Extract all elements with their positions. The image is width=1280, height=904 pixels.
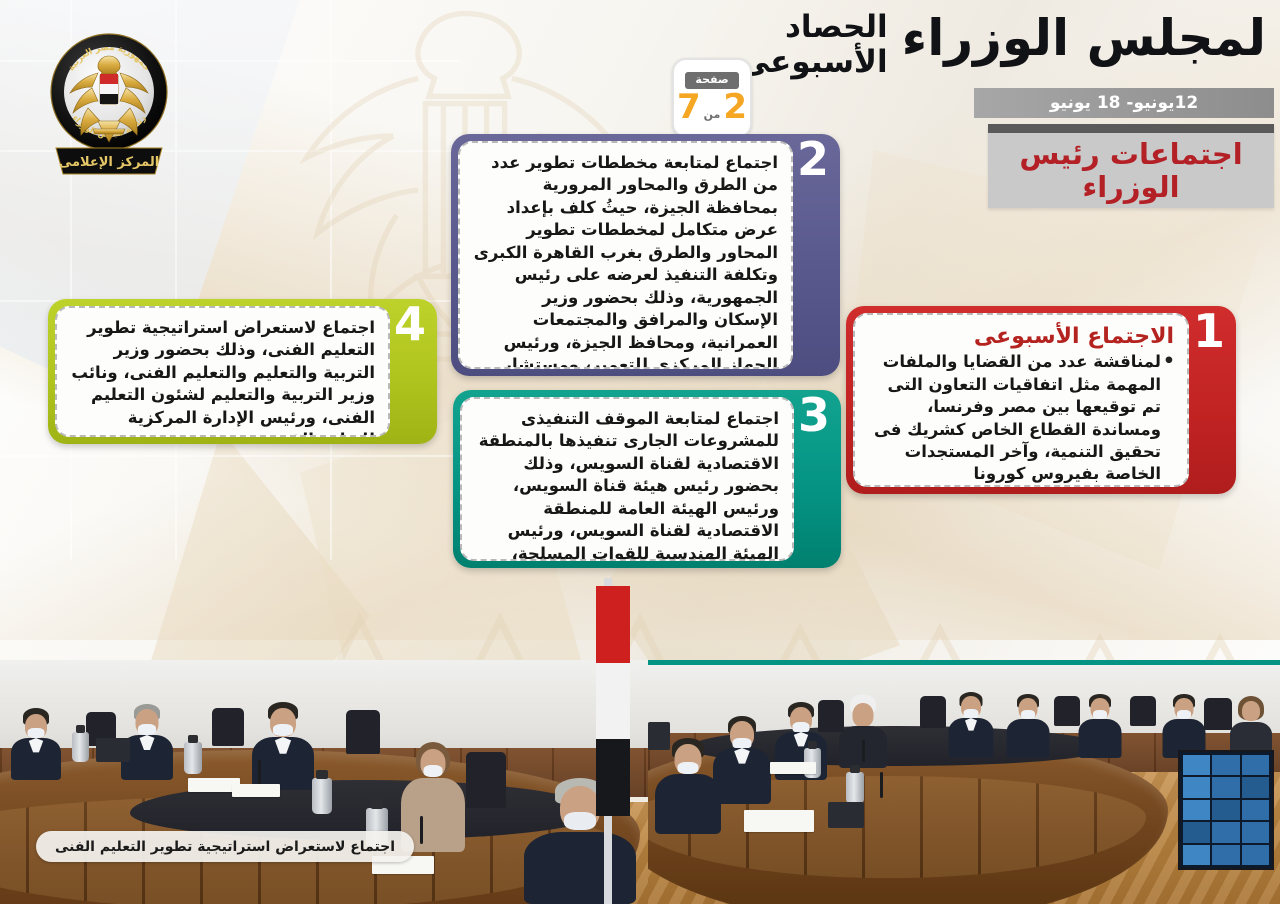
content-card-4[interactable]: 4 اجتماع لاستعراض استراتيجية تطوير التعل… <box>48 299 437 444</box>
page-title-prefix-line2: الأسبوعى <box>739 45 888 80</box>
content-card-2[interactable]: 2 اجتماع لمتابعة مخططات تطوير عدد من الط… <box>451 134 840 376</box>
photo-caption-left-text: اجتماع لاستعراض استراتيجية تطوير التعليم… <box>55 839 395 855</box>
card-text-2: اجتماع لمتابعة مخططات تطوير عدد من الطرق… <box>473 152 778 369</box>
photo-weekly-cabinet-meeting: الاجتماع الأسبوعى لمجلس الوزراء <box>648 660 1280 904</box>
date-range-text: 12يونيو- 18 يونيو <box>1050 93 1198 113</box>
date-range-bar: 12يونيو- 18 يونيو <box>974 88 1274 118</box>
page-badge-numbers: 2 من 7 <box>677 90 747 124</box>
page-badge-total: 7 <box>677 90 701 124</box>
card-number-3: 3 <box>798 392 830 438</box>
cabinet-media-center-logo-icon: جمهورية مصر العربية رئاسة مجلس الوزراء <box>36 26 186 184</box>
card-text-1: لمناقشة عدد من القضايا والملفات المهمة م… <box>868 351 1174 486</box>
card-text-4: اجتماع لاستعراض استراتيجية تطوير التعليم… <box>70 317 375 437</box>
content-card-3[interactable]: 3 اجتماع لمتابعة الموقف التنفيذى للمشروع… <box>453 390 841 568</box>
card-number-1: 1 <box>1193 308 1225 354</box>
page-title: لمجلس الوزراء <box>902 4 1266 64</box>
card-title-1: الاجتماع الأسبوعى <box>868 324 1174 349</box>
page-title-prefix: الحصاد الأسبوعى <box>739 4 888 79</box>
svg-text:المركز الإعلامى: المركز الإعلامى <box>59 155 159 170</box>
egypt-flag-icon <box>596 586 630 816</box>
content-card-1[interactable]: 1 الاجتماع الأسبوعى لمناقشة عدد من القضا… <box>846 306 1236 494</box>
photo-strip: اجتماع لاستعراض استراتيجية تطوير التعليم… <box>0 660 1280 904</box>
page-number-badge: صفحة 2 من 7 <box>672 58 752 138</box>
photo-divider <box>648 660 1280 665</box>
page-badge-current: 2 <box>723 90 747 124</box>
card-body-2: اجتماع لمتابعة مخططات تطوير عدد من الطرق… <box>458 141 793 369</box>
page-badge-of: من <box>704 108 721 121</box>
header-title-group: لمجلس الوزراء الحصاد الأسبوعى <box>739 4 1266 79</box>
section-banner-text: اجتماعات رئيس الوزراء <box>988 138 1274 203</box>
card-text-3: اجتماع لمتابعة الموقف التنفيذى للمشروعات… <box>475 408 779 561</box>
card-number-4: 4 <box>394 301 426 347</box>
card-body-4: اجتماع لاستعراض استراتيجية تطوير التعليم… <box>55 306 390 437</box>
page-title-prefix-line1: الحصاد <box>739 10 888 45</box>
card-body-1: الاجتماع الأسبوعى لمناقشة عدد من القضايا… <box>853 313 1189 487</box>
infographic-stage: جمهورية مصر العربية رئاسة مجلس الوزراء <box>0 0 1280 904</box>
photo-technical-education-meeting: اجتماع لاستعراض استراتيجية تطوير التعليم… <box>0 660 648 904</box>
photo-caption-left: اجتماع لاستعراض استراتيجية تطوير التعليم… <box>36 831 414 862</box>
card-body-3: اجتماع لمتابعة الموقف التنفيذى للمشروعات… <box>460 397 794 561</box>
section-banner: اجتماعات رئيس الوزراء <box>988 124 1274 208</box>
card-number-2: 2 <box>797 136 829 182</box>
